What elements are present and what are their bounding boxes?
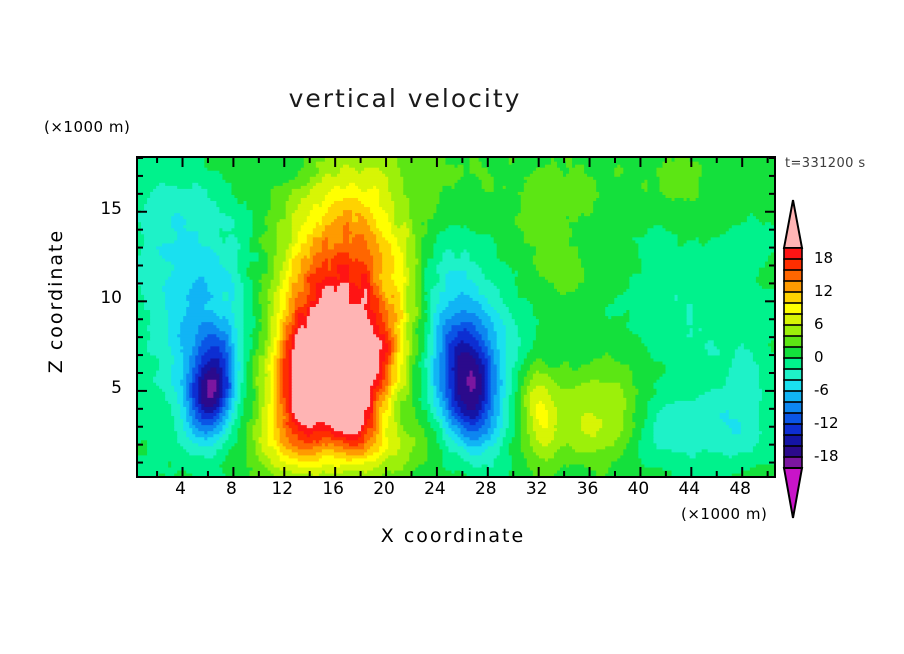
x-tick-label: 28 [463, 479, 509, 499]
x-axis-unit-label: (×1000 m) [681, 505, 767, 523]
x-tick-label: 36 [565, 479, 611, 499]
x-tick-label: 16 [310, 479, 356, 499]
colorbar [778, 196, 808, 522]
x-tick-label: 20 [361, 479, 407, 499]
x-tick-label: 8 [208, 479, 254, 499]
colorbar-tick-label: -12 [814, 414, 839, 432]
colorbar-tick-label: -18 [814, 447, 839, 465]
page-title: vertical velocity [0, 84, 904, 113]
x-axis-title: X coordinate [268, 525, 638, 547]
y-axis-title: Z coordinate [45, 211, 67, 391]
contour-plot-field [136, 156, 776, 478]
x-tick-label: 44 [666, 479, 712, 499]
colorbar-tick-label: 0 [814, 348, 824, 366]
colorbar-tick-label: 12 [814, 282, 833, 300]
x-tick-label: 4 [158, 479, 204, 499]
x-tick-label: 32 [514, 479, 560, 499]
x-tick-label: 24 [412, 479, 458, 499]
plot-title-text: vertical velocity [289, 84, 522, 113]
x-tick-label: 12 [259, 479, 305, 499]
colorbar-tick-label: -6 [814, 381, 829, 399]
x-tick-label: 40 [615, 479, 661, 499]
y-axis-unit-label: (×1000 m) [44, 118, 130, 136]
contour-field-svg [138, 158, 774, 476]
y-tick-label: 5 [80, 378, 122, 398]
x-tick-label: 48 [717, 479, 763, 499]
time-stamp-annotation: t=331200 s [785, 156, 866, 171]
y-tick-label: 10 [80, 288, 122, 308]
colorbar-tick-label: 6 [814, 315, 824, 333]
colorbar-tick-label: 18 [814, 249, 833, 267]
y-tick-label: 15 [80, 199, 122, 219]
